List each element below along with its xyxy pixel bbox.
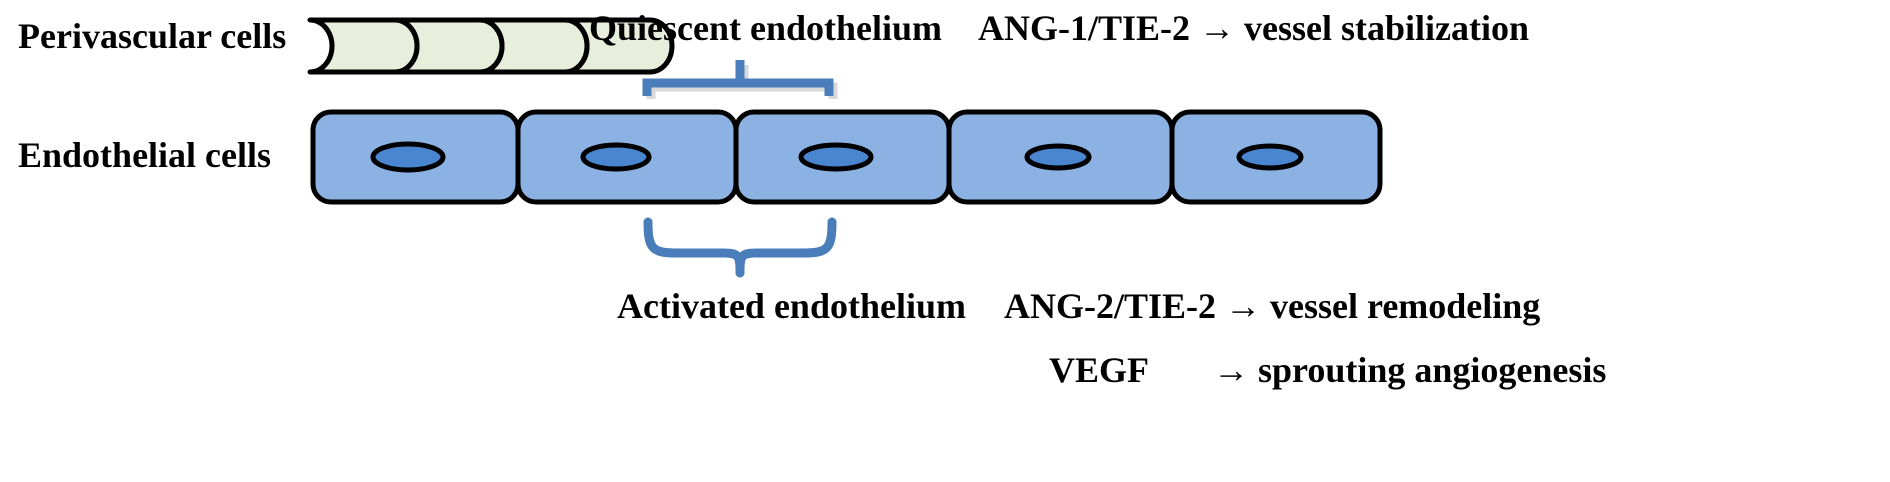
perivascular-cells-label: Perivascular cells <box>18 18 286 54</box>
endothelial-cell <box>313 112 518 202</box>
ang2-tie2-annotation: ANG-2/TIE-2 → vessel remodeling <box>1004 288 1540 324</box>
perivascular-cell <box>310 20 417 72</box>
endothelial-nucleus <box>801 145 871 169</box>
ang1-tie2-annotation: ANG-1/TIE-2 → vessel stabilization <box>978 10 1529 46</box>
vegf-label: VEGF <box>1049 352 1149 388</box>
endothelial-nucleus <box>373 144 443 170</box>
activated-endothelium-label: Activated endothelium <box>617 288 966 324</box>
endothelial-nucleus <box>1027 146 1089 168</box>
endothelial-cell <box>1172 112 1380 202</box>
activated-bracket <box>648 222 832 273</box>
endothelial-cells-label: Endothelial cells <box>18 137 271 173</box>
vegf-sprouting-annotation: → sprouting angiogenesis <box>1213 352 1606 388</box>
endothelial-cell <box>518 112 736 202</box>
endothelial-nucleus <box>1239 146 1301 168</box>
figure-canvas: Perivascular cells Endothelial cells Qui… <box>0 0 1890 482</box>
quiescent-endothelium-label: Quiescent endothelium <box>589 10 942 46</box>
endothelial-cell <box>736 112 949 202</box>
diagram-graphics <box>0 0 1890 482</box>
quiescent-bracket <box>647 60 833 99</box>
endothelial-cell <box>949 112 1172 202</box>
quiescent-bracket-shadow <box>651 87 833 99</box>
endothelial-nucleus <box>583 145 649 169</box>
endothelial-cell-group <box>313 112 1380 202</box>
